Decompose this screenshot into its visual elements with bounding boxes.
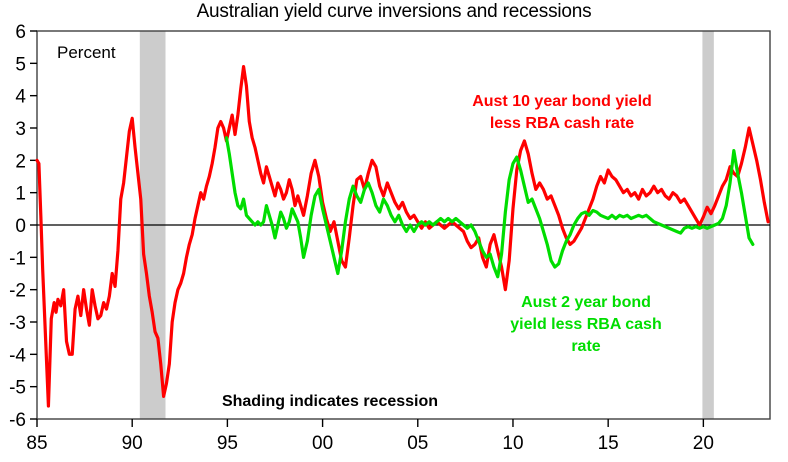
annotation-green-3: rate bbox=[571, 338, 600, 355]
y-tick-label-1: 1 bbox=[15, 184, 26, 205]
x-tick-label-95: 95 bbox=[217, 433, 238, 454]
x-tick-label-20: 20 bbox=[693, 433, 714, 454]
x-tick-label-05: 05 bbox=[407, 433, 428, 454]
y-tick-label-3: 3 bbox=[15, 119, 26, 140]
chart-canvas: 6543210-1-2-3-4-5-68590950005101520Perce… bbox=[0, 0, 788, 462]
y-tick-label-6: 6 bbox=[15, 22, 26, 43]
y-tick-label-4: 4 bbox=[15, 87, 26, 108]
annotation-red-1: Aust 10 year bond yield bbox=[472, 93, 652, 110]
x-tick-label-00: 00 bbox=[312, 433, 333, 454]
x-tick-label-15: 15 bbox=[598, 433, 619, 454]
y-tick-label--1: -1 bbox=[9, 248, 26, 269]
annotation-green-2: yield less RBA cash bbox=[510, 316, 661, 333]
annotation-green-1: Aust 2 year bond bbox=[521, 294, 651, 311]
annotation-shading-note: Shading indicates recession bbox=[222, 393, 438, 410]
x-tick-label-90: 90 bbox=[122, 433, 143, 454]
y-tick-label--6: -6 bbox=[9, 410, 26, 431]
y-tick-label-0: 0 bbox=[15, 216, 26, 237]
y-tick-label-2: 2 bbox=[15, 151, 26, 172]
percent-label: Percent bbox=[57, 43, 116, 62]
annotation-red-2: less RBA cash rate bbox=[490, 115, 634, 132]
y-tick-label--5: -5 bbox=[9, 378, 26, 399]
chart-svg: 6543210-1-2-3-4-5-68590950005101520Perce… bbox=[0, 0, 788, 462]
y-tick-label-5: 5 bbox=[15, 54, 26, 75]
y-tick-label--4: -4 bbox=[9, 345, 26, 366]
y-tick-label--3: -3 bbox=[9, 313, 26, 334]
x-tick-label-10: 10 bbox=[502, 433, 523, 454]
y-tick-label--2: -2 bbox=[9, 281, 26, 302]
x-tick-label-85: 85 bbox=[26, 433, 47, 454]
chart-page: Australian yield curve inversions and re… bbox=[0, 0, 788, 462]
